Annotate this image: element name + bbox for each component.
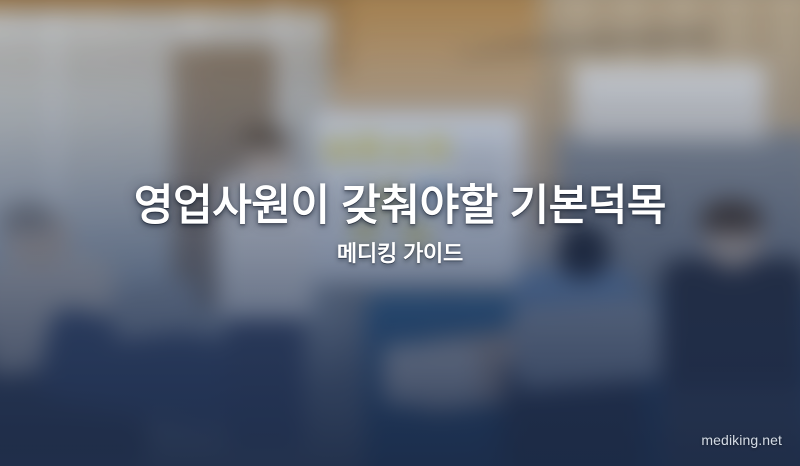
hero-banner: 영업사원이 갖춰야할 기본덕목 메디킹 가이드 mediking.net [0,0,800,466]
hero-text-block: 영업사원이 갖춰야할 기본덕목 메디킹 가이드 [0,182,800,268]
page-subtitle: 메디킹 가이드 [0,241,800,267]
page-title: 영업사원이 갖춰야할 기본덕목 [0,182,800,230]
site-watermark: mediking.net [701,432,782,448]
